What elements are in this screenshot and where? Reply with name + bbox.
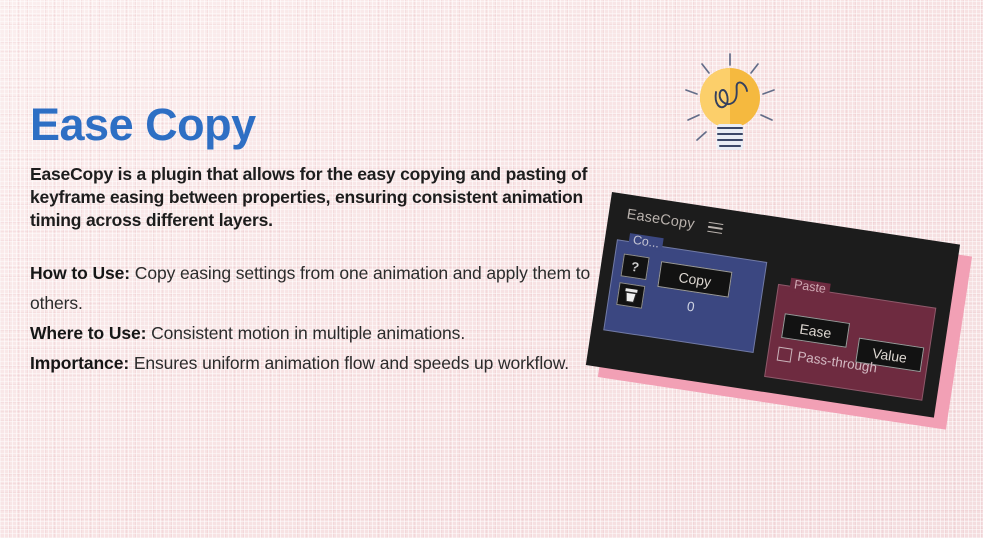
panel-title: EaseCopy [626,207,696,233]
copy-group: Co... ? Copy 0 [603,239,767,353]
list-item: Importance: Ensures uniform animation fl… [30,348,605,378]
copy-count-value: 0 [654,294,727,320]
trash-glyph [623,287,639,304]
paste-group: Paste Ease Value Pass-through [764,284,936,401]
bullet-list: How to Use: Copy easing settings from on… [30,258,605,378]
copy-button[interactable]: Copy [657,261,732,297]
bullet-text: Ensures uniform animation flow and speed… [129,353,569,373]
plugin-panel-mockup: EaseCopy Co... ? Copy 0 Paste Ease Value [612,178,980,426]
passthrough-checkbox[interactable] [777,346,793,362]
list-item: How to Use: Copy easing settings from on… [30,258,605,318]
bullet-label: Where to Use: [30,323,146,343]
copy-group-label: Co... [628,233,664,251]
lightbulb-icon [672,52,788,158]
question-mark-icon[interactable]: ? [621,253,650,280]
trash-can-icon[interactable] [616,282,645,309]
bullet-label: Importance: [30,353,129,373]
bullet-text: Consistent motion in multiple animations… [146,323,465,343]
intro-paragraph: EaseCopy is a plugin that allows for the… [30,163,590,232]
bullet-label: How to Use: [30,263,130,283]
help-button-label: ? [630,260,640,274]
hamburger-menu-icon[interactable] [707,221,723,234]
paste-ease-button[interactable]: Ease [781,313,850,348]
list-item: Where to Use: Consistent motion in multi… [30,318,605,348]
text-column: Ease Copy EaseCopy is a plugin that allo… [0,0,620,538]
page-title: Ease Copy [30,102,256,147]
paste-group-label: Paste [789,278,830,296]
